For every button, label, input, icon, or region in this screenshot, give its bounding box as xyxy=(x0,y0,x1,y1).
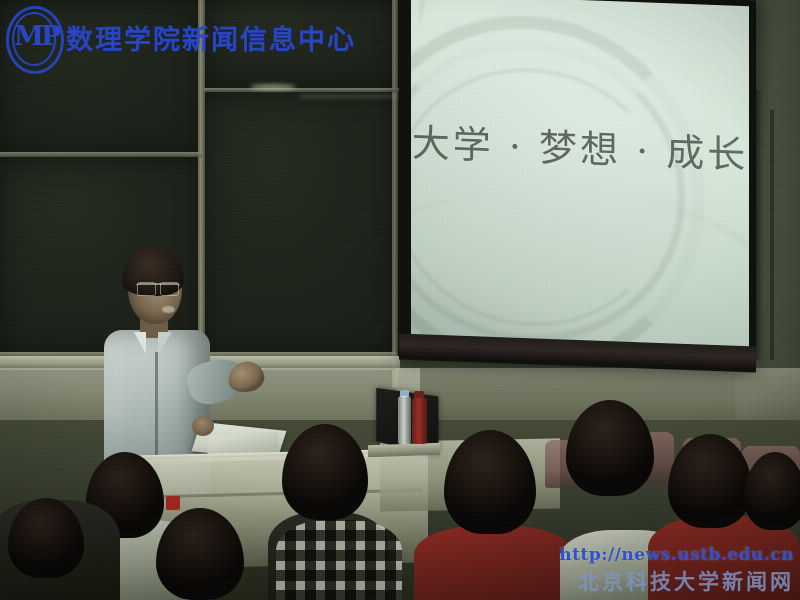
watermark-top-text: 数理学院新闻信息中心 xyxy=(66,18,356,57)
speaker-collar-left xyxy=(134,332,146,354)
cola-bottle xyxy=(412,398,427,444)
blackboard-frame-horizontal-2 xyxy=(204,88,400,92)
projection-screen: 大学 · 梦想 · 成长 xyxy=(411,0,749,354)
watermark-url: http://news.ustb.edu.cn xyxy=(559,545,794,565)
podium-red-object xyxy=(166,496,180,510)
watermark-top: MP 数理学院新闻信息中心 xyxy=(6,6,356,68)
news-center-logo-icon: MP xyxy=(6,6,58,68)
photograph: 大学 · 梦想 · 成长 xyxy=(0,0,800,600)
audience-member-3-plaid-shirt xyxy=(276,520,402,600)
glasses-icon xyxy=(136,283,180,296)
speaker-collar-right xyxy=(158,332,172,354)
blackboard-glare xyxy=(250,84,296,90)
audience-member-5-body xyxy=(414,526,574,600)
logo-monogram: MP xyxy=(14,20,50,54)
watermark-bottom: http://news.ustb.edu.cn 北京科技大学新闻网 xyxy=(559,545,794,596)
blackboard-frame-vertical-2 xyxy=(392,0,398,388)
blackboard-frame-horizontal-1 xyxy=(0,152,202,157)
watermark-site-name: 北京科技大学新闻网 xyxy=(559,566,794,596)
wall-pillar-shadow xyxy=(770,110,774,360)
water-bottle xyxy=(398,396,411,444)
laptop-keyboard-base xyxy=(368,443,440,458)
speaker-mouth xyxy=(162,306,175,313)
speaker-hand-holding-papers xyxy=(192,416,214,436)
